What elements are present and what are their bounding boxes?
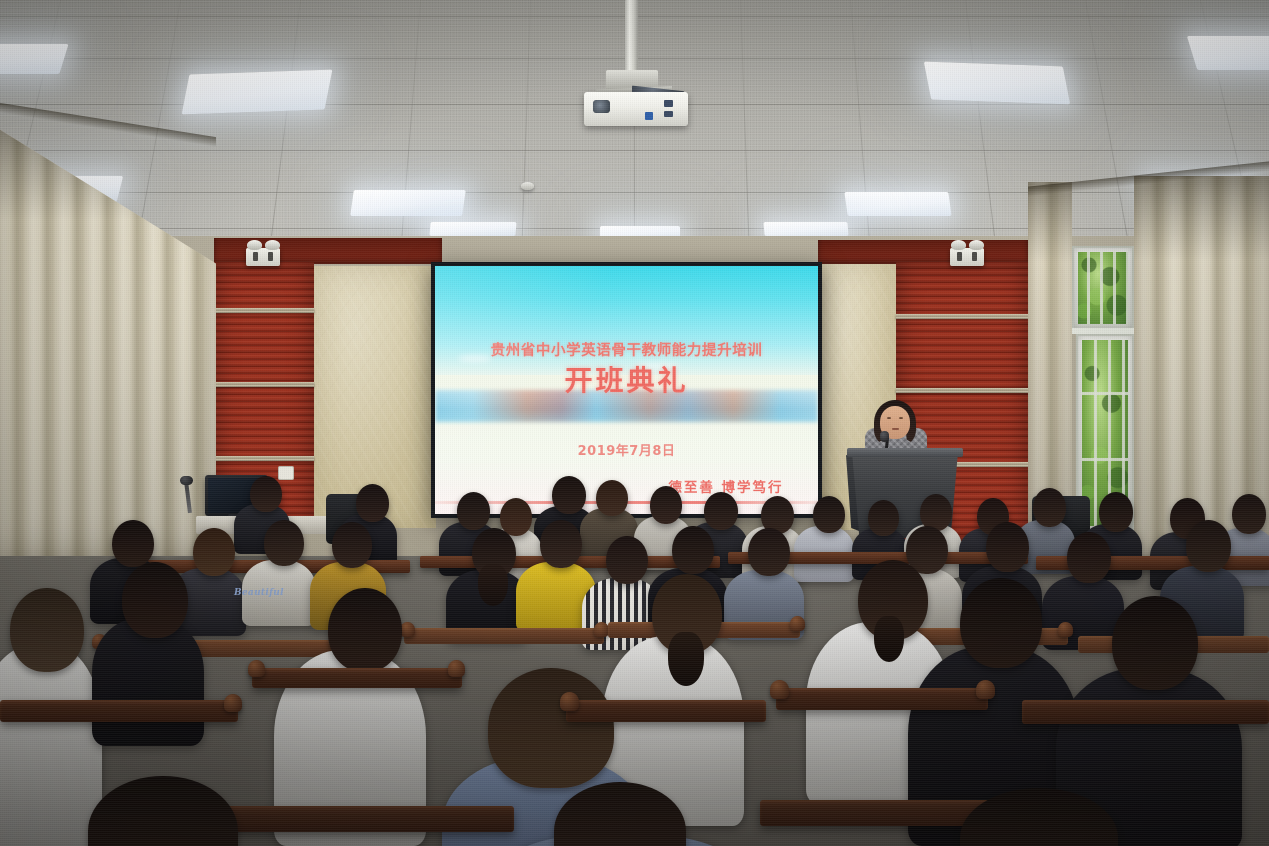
bench-finial: [594, 622, 609, 637]
bench-row: [404, 628, 604, 644]
window-foliage-view: [1078, 252, 1128, 324]
slide-date: 2019年7月8日: [435, 440, 818, 459]
microphone-icon: [880, 431, 889, 442]
bench-front: [1022, 700, 1269, 724]
wall-accent-strip: [214, 456, 314, 461]
projector-mount-pole: [625, 0, 638, 74]
slide-subtitle: 贵州省中小学英语骨干教师能力提升培训: [435, 339, 818, 360]
speaker-dome-icon: [969, 240, 984, 250]
wall-socket: [278, 466, 294, 480]
lecture-hall-photo: 贵州省中小学英语骨干教师能力提升培训 开班典礼 2019年7月8日 德至善 博学…: [0, 0, 1269, 846]
projection-screen: 贵州省中小学英语骨干教师能力提升培训 开班典礼 2019年7月8日 德至善 博学…: [431, 262, 822, 518]
bench-finial: [224, 694, 242, 712]
bench-front: [566, 700, 766, 722]
podium-top-surface: [847, 448, 963, 457]
ceiling-light-panel: [844, 192, 951, 216]
bench-finial: [1058, 622, 1073, 637]
desk-microphone-icon: [180, 476, 193, 485]
ceiling-light-panel: [182, 70, 333, 115]
wall-header-beam-right: [818, 240, 1028, 264]
hoodie-graphic-text: Beautiful: [234, 588, 284, 598]
wall-speaker-icon: [950, 248, 984, 266]
ceiling-light-panel: [924, 62, 1070, 105]
ceiling-light-panel: [763, 222, 848, 236]
bench-finial: [560, 692, 579, 711]
bench-front: [0, 700, 238, 722]
projector-lens-icon: [593, 100, 610, 113]
window-upper: [1072, 246, 1134, 330]
ceiling-light-panel: [429, 222, 516, 236]
speaker-dome-icon: [265, 240, 280, 250]
bench-front: [252, 668, 462, 688]
smoke-detector-icon: [521, 182, 534, 190]
wall-accent-strip: [896, 388, 1028, 393]
bench-finial: [770, 680, 789, 699]
slide-title: 开班典礼: [435, 359, 818, 399]
wall-accent-strip: [896, 314, 1028, 319]
wall-accent-strip: [214, 382, 314, 387]
speaker-dome-icon: [247, 240, 262, 250]
bench-finial: [248, 660, 265, 677]
bench-finial: [790, 616, 805, 631]
wall-accent-strip: [214, 308, 314, 313]
speaker-dome-icon: [951, 240, 966, 250]
ceiling-light-panel: [1187, 36, 1269, 70]
presentation-slide: 贵州省中小学英语骨干教师能力提升培训 开班典礼 2019年7月8日 德至善 博学…: [435, 266, 818, 514]
bench-front: [776, 688, 988, 710]
bench-finial: [976, 680, 995, 699]
ceiling-light-panel: [350, 190, 466, 216]
bench-finial: [400, 622, 415, 637]
wall-speaker-icon: [246, 248, 280, 266]
ceiling-light-panel: [0, 44, 69, 74]
bench-finial: [448, 660, 465, 677]
